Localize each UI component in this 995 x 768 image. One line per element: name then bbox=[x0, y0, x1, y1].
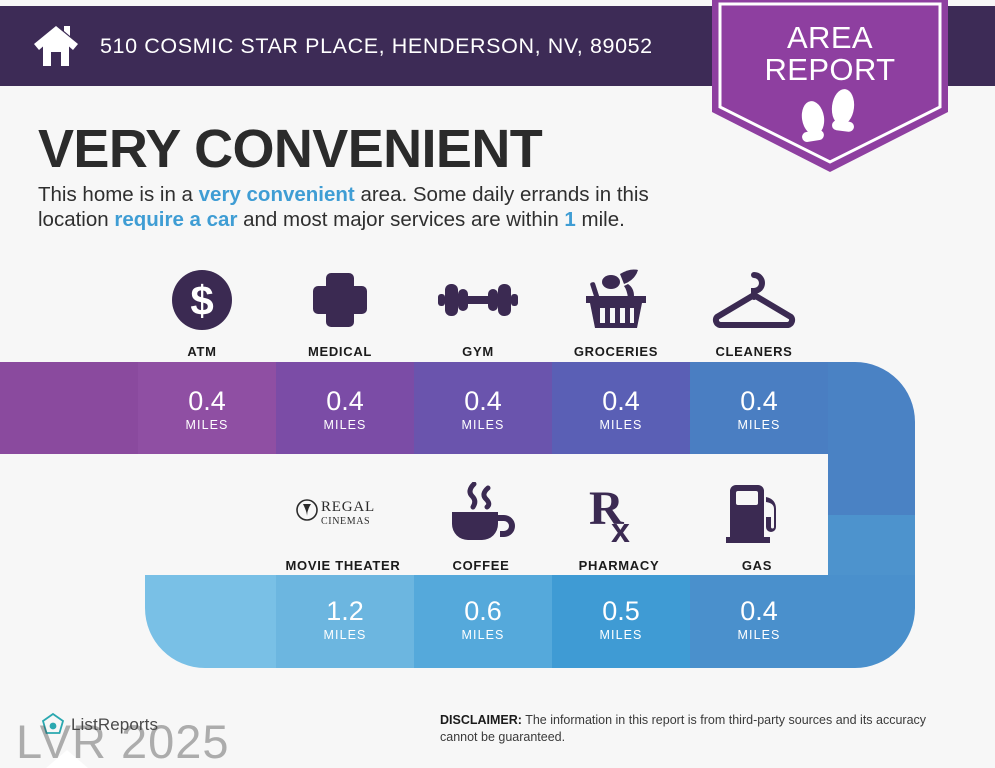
distance-ribbon bbox=[0, 362, 995, 668]
amenity-groceries: GROCERIES bbox=[547, 264, 685, 359]
amenity-atm: $ ATM bbox=[133, 264, 271, 359]
disclaimer: DISCLAIMER: The information in this repo… bbox=[440, 712, 960, 746]
ribbon-segment-groceries bbox=[552, 362, 690, 454]
page-description: This home is in a very convenient area. … bbox=[38, 182, 710, 232]
ribbon-segment-gym bbox=[414, 362, 552, 454]
badge-line-1: AREA bbox=[712, 22, 948, 54]
ribbon-segment-coffee bbox=[414, 575, 552, 668]
amenity-label: GROCERIES bbox=[574, 344, 658, 359]
home-icon bbox=[28, 22, 84, 70]
medical-cross-icon bbox=[309, 264, 371, 336]
ribbon-connector-right-2 bbox=[828, 515, 995, 575]
pentagon-house-icon bbox=[40, 712, 66, 738]
desc-part-3: and most major services are within bbox=[237, 208, 564, 231]
dumbbell-icon bbox=[438, 264, 518, 336]
desc-highlight-2: require a car bbox=[114, 208, 237, 231]
amenity-label: ATM bbox=[187, 344, 216, 359]
property-address: 510 COSMIC STAR PLACE, HENDERSON, NV, 89… bbox=[100, 34, 653, 59]
desc-part-1: This home is in a bbox=[38, 183, 199, 206]
amenity-gym: GYM bbox=[409, 264, 547, 359]
ribbon-segment-movie bbox=[276, 575, 414, 668]
desc-highlight-1: very convenient bbox=[199, 183, 355, 206]
ribbon-corner-bottom-left bbox=[0, 575, 276, 668]
area-report-infographic: 510 COSMIC STAR PLACE, HENDERSON, NV, 89… bbox=[0, 0, 995, 768]
svg-text:$: $ bbox=[190, 277, 213, 324]
amenity-icon-row-1: $ ATM MEDICAL bbox=[133, 264, 823, 359]
badge-title: AREA REPORT bbox=[712, 22, 948, 86]
area-report-badge: AREA REPORT bbox=[712, 0, 948, 172]
listreports-logo: ListReports bbox=[40, 712, 158, 738]
ribbon-corner-bottom-right bbox=[828, 575, 995, 668]
ribbon-corner-top-right bbox=[828, 362, 995, 454]
amenity-label: GYM bbox=[462, 344, 494, 359]
home-icon bbox=[44, 748, 90, 768]
ribbon-segment-atm bbox=[138, 362, 276, 454]
clothes-hanger-icon bbox=[711, 264, 797, 336]
amenity-label: CLEANERS bbox=[715, 344, 792, 359]
ribbon-segment-medical bbox=[276, 362, 414, 454]
amenity-cleaners: CLEANERS bbox=[685, 264, 823, 359]
ribbon-segment-gas bbox=[690, 575, 828, 668]
ribbon-connector-right bbox=[828, 454, 995, 515]
ribbon-segment-cleaners bbox=[690, 362, 828, 454]
desc-highlight-3: 1 bbox=[564, 208, 575, 231]
ribbon-segment-pharmacy bbox=[552, 575, 690, 668]
grocery-basket-icon bbox=[580, 264, 652, 336]
page-title: VERY CONVENIENT bbox=[38, 118, 542, 180]
amenity-medical: MEDICAL bbox=[271, 264, 409, 359]
badge-line-2: REPORT bbox=[712, 54, 948, 86]
ribbon-segment-home bbox=[0, 362, 138, 454]
desc-part-4: mile. bbox=[576, 208, 625, 231]
amenity-label: MEDICAL bbox=[308, 344, 372, 359]
dollar-circle-icon: $ bbox=[171, 264, 233, 336]
listreports-name: ListReports bbox=[71, 715, 158, 735]
disclaimer-label: DISCLAIMER: bbox=[440, 713, 522, 727]
